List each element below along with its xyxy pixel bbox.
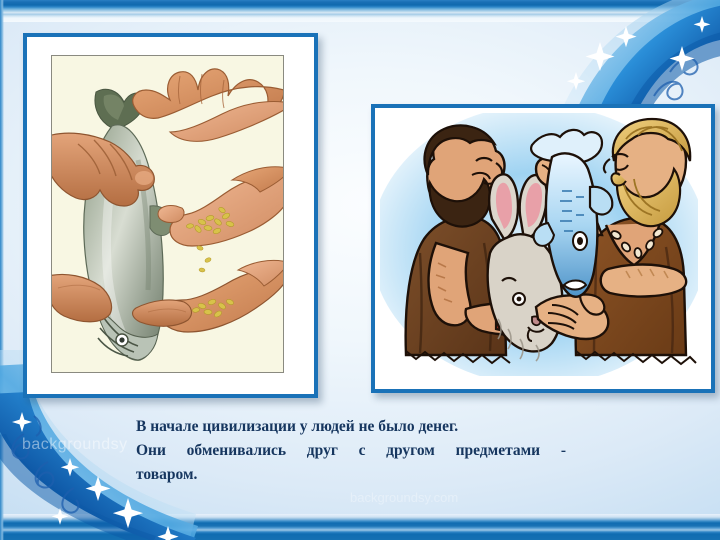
caption-line-3: товаром. [136, 463, 566, 487]
bottom-striped-band [0, 514, 720, 540]
picture-frame-left[interactable] [23, 33, 318, 398]
top-striped-band [0, 0, 720, 22]
caption-line-2: Они обменивались друг с другом предметам… [136, 439, 566, 463]
caption-line-1: В начале цивилизации у людей не было ден… [136, 415, 566, 439]
picture-frame-right[interactable] [371, 104, 715, 393]
image-two-men-bartering-rabbit-for-fish [380, 113, 698, 376]
slide-caption: В начале цивилизации у людей не было ден… [136, 415, 566, 487]
presentation-slide: backgroundsy backgroundsy.com [0, 0, 720, 540]
watermark-backgroundsy: backgroundsy [22, 436, 128, 454]
watermark-secondary: backgroundsy.com [350, 490, 458, 505]
picture-frame-right-inner [375, 108, 711, 389]
picture-frame-left-inner [27, 37, 314, 394]
image-hands-exchanging-fish-and-grain [51, 55, 284, 373]
left-edge-accent [0, 0, 4, 540]
